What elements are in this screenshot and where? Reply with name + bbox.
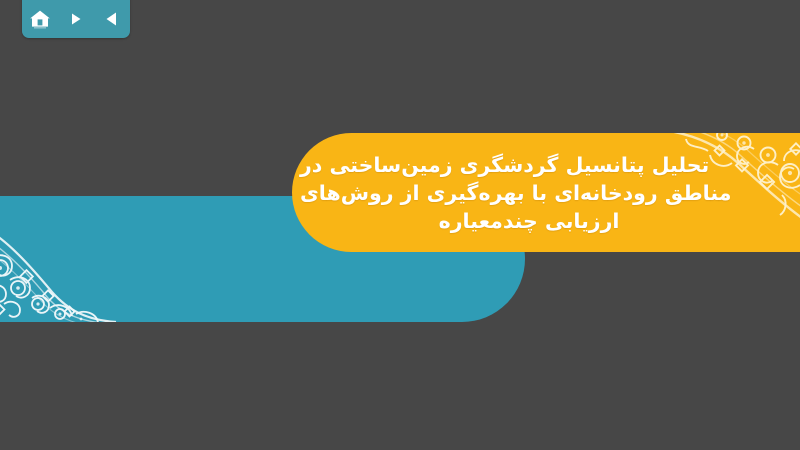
back-button[interactable] [99, 6, 125, 32]
navigation-bar [22, 0, 130, 38]
forward-icon [67, 10, 85, 28]
title-slide: تحلیل پتانسیل گردشگری زمین‌ساختی در مناط… [0, 0, 800, 450]
forward-button[interactable] [63, 6, 89, 32]
home-icon [29, 9, 51, 29]
title-line-2: مناطق رودخانه‌ای با بهره‌گیری از روش‌های [300, 179, 731, 207]
presentation-title: تحلیل پتانسیل گردشگری زمین‌ساختی در مناط… [292, 133, 800, 252]
home-button[interactable] [27, 6, 53, 32]
orange-title-banner: تحلیل پتانسیل گردشگری زمین‌ساختی در مناط… [292, 133, 800, 252]
title-line-3: ارزیابی چندمعیاره [439, 207, 620, 235]
title-line-1: تحلیل پتانسیل گردشگری زمین‌ساختی در [300, 151, 709, 179]
back-icon [103, 10, 121, 28]
teal-arabesque-ornament [0, 196, 186, 322]
